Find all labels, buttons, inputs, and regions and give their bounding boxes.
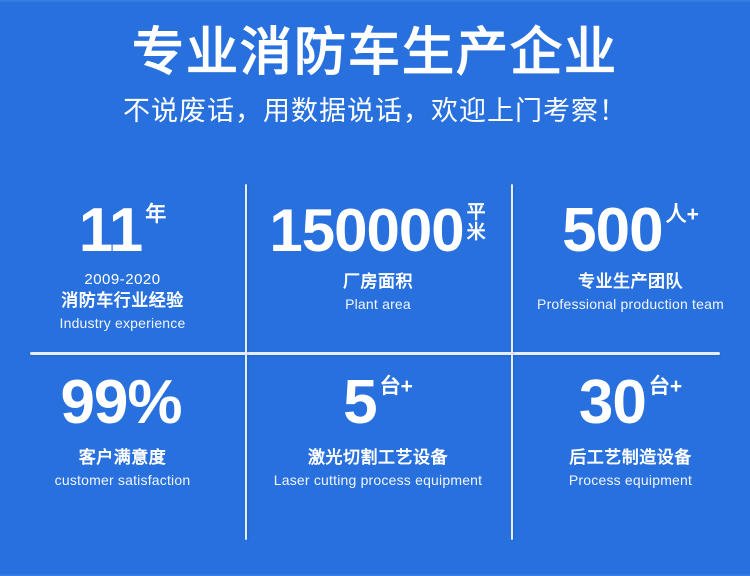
stat-number-line: 11 年 [79,200,167,262]
stat-cell-laser-cutting-equipment: 5 台+ 激光切割工艺设备 Laser cutting process equi… [245,352,511,540]
stat-unit: 人+ [666,204,699,225]
page-subtitle: 不说废话，用数据说话，欢迎上门考察！ [0,94,750,128]
stat-number: 99% [60,372,181,434]
stats-grid: 11 年 2009-2020 消防车行业经验 Industry experien… [0,184,750,540]
page-title: 专业消防车生产企业 [0,22,750,84]
stat-number: 30 [579,372,646,434]
stat-unit: 台+ [380,376,413,397]
stat-cell-customer-satisfaction: 99% 客户满意度 customer satisfaction [0,352,245,540]
stat-range: 2009-2020 [0,270,245,289]
stat-label-en: Laser cutting process equipment [245,470,511,490]
stat-label-cn: 激光切割工艺设备 [245,446,511,470]
stat-label-en: Professional production team [511,294,750,314]
stat-number: 500 [562,200,662,262]
stat-cell-process-equipment: 30 台+ 后工艺制造设备 Process equipment [511,352,750,540]
stat-cell-production-team: 500 人+ 专业生产团队 Professional production te… [511,184,750,352]
stat-labels: 激光切割工艺设备 Laser cutting process equipment [245,446,511,490]
stat-label-cn: 消防车行业经验 [0,289,245,313]
stat-label-cn: 厂房面积 [245,270,511,294]
banner-header: 专业消防车生产企业 不说废话，用数据说话，欢迎上门考察！ [0,22,750,128]
promo-banner: 专业消防车生产企业 不说废话，用数据说话，欢迎上门考察！ 11 年 2009-2… [0,0,750,576]
stat-labels: 客户满意度 customer satisfaction [0,446,245,490]
stat-label-en: Process equipment [511,470,750,490]
stat-number-line: 99% [60,372,184,434]
stat-number-line: 150000 平米 [269,200,486,262]
stat-labels: 2009-2020 消防车行业经验 Industry experience [0,270,245,333]
stat-unit: 年 [145,204,166,225]
stat-number-line: 5 台+ [343,372,413,434]
stat-label-cn: 客户满意度 [0,446,245,470]
stat-number-line: 30 台+ [579,372,682,434]
stat-labels: 后工艺制造设备 Process equipment [511,446,750,490]
stat-label-en: Industry experience [0,313,245,333]
stat-labels: 厂房面积 Plant area [245,270,511,314]
stat-number: 5 [343,372,376,434]
stat-labels: 专业生产团队 Professional production team [511,270,750,314]
stat-label-en: customer satisfaction [0,470,245,490]
stat-cell-plant-area: 150000 平米 厂房面积 Plant area [245,184,511,352]
stat-label-cn: 专业生产团队 [511,270,750,294]
stat-number-line: 500 人+ [562,200,699,262]
stat-label-en: Plant area [245,294,511,314]
stat-unit: 台+ [649,376,682,397]
stat-cell-industry-experience: 11 年 2009-2020 消防车行业经验 Industry experien… [0,184,245,352]
stat-label-cn: 后工艺制造设备 [511,446,750,470]
stat-number: 150000 [269,200,463,262]
stat-number: 11 [79,200,143,262]
stat-unit: 平米 [467,203,487,243]
